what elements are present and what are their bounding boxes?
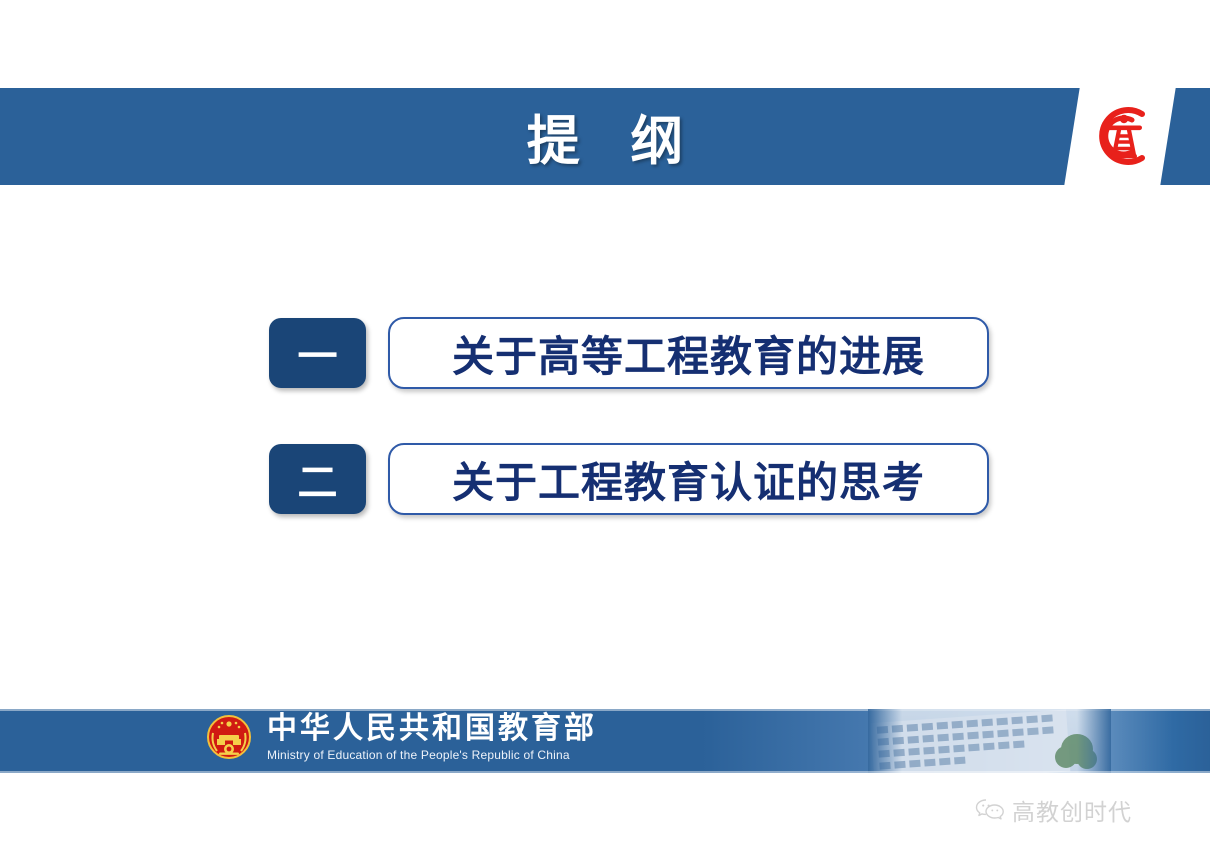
- ministry-brand: 中华人民共和国教育部 Ministry of Education of the …: [205, 713, 597, 762]
- china-national-emblem-icon: [205, 713, 253, 761]
- outline-item[interactable]: 二 关于工程教育认证的思考: [269, 443, 989, 515]
- ministry-name-en: Ministry of Education of the People's Re…: [267, 748, 597, 762]
- outline-item-box[interactable]: 关于高等工程教育的进展: [388, 317, 989, 389]
- outline-item-box[interactable]: 关于工程教育认证的思考: [388, 443, 989, 515]
- outline-list: 一 关于高等工程教育的进展 二 关于工程教育认证的思考: [269, 317, 989, 569]
- wechat-icon: [975, 797, 1005, 823]
- watermark-label: 高教创时代: [1012, 793, 1132, 827]
- university-emblem-icon: [1084, 96, 1164, 176]
- ministry-name-cn: 中华人民共和国教育部: [267, 713, 597, 745]
- presentation-slide: 提 纲 一: [0, 0, 1210, 855]
- slide-header: 提 纲: [0, 88, 1210, 185]
- wechat-watermark: 高教创时代: [975, 793, 1132, 827]
- outline-item-label: 关于高等工程教育的进展: [452, 323, 925, 384]
- outline-item-number: 二: [269, 444, 366, 514]
- outline-item[interactable]: 一 关于高等工程教育的进展: [269, 317, 989, 389]
- footer-bottom-divider: [0, 771, 1210, 773]
- ministry-names: 中华人民共和国教育部 Ministry of Education of the …: [267, 713, 597, 762]
- outline-item-label: 关于工程教育认证的思考: [452, 449, 925, 510]
- slide-title: 提 纲: [0, 88, 1210, 185]
- office-building-photo: [868, 709, 1111, 773]
- slide-footer: 中华人民共和国教育部 Ministry of Education of the …: [0, 709, 1210, 773]
- outline-item-number: 一: [269, 318, 366, 388]
